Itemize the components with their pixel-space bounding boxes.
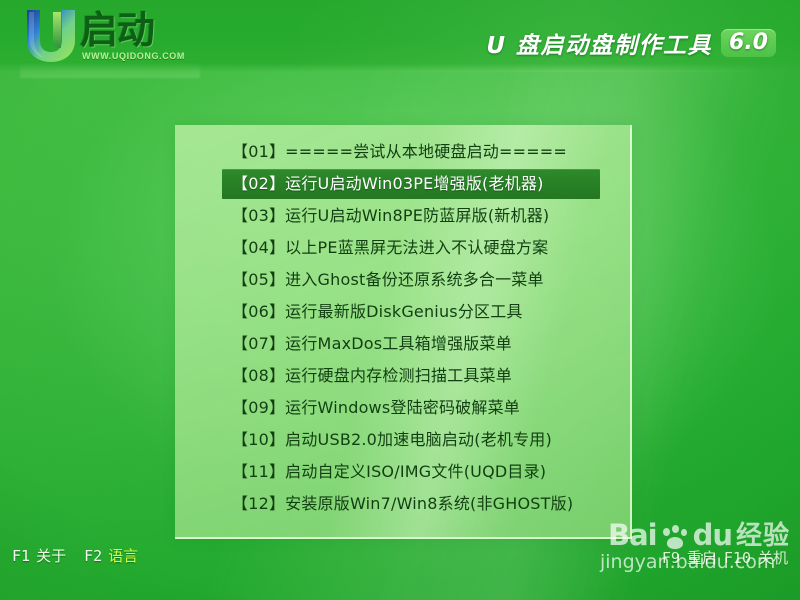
menu-item-11[interactable]: 【11】启动自定义ISO/IMG文件(UQD目录) — [175, 456, 630, 488]
menu-item-label: 【12】安装原版Win7/Win8系统(非GHOST版) — [232, 488, 573, 520]
hotkey-f1-key[interactable]: F1 — [12, 547, 30, 565]
hotkey-f9-key[interactable]: F9 — [662, 549, 680, 567]
page-title: U 盘启动盘制作工具 — [486, 26, 712, 60]
menu-item-label: 【11】启动自定义ISO/IMG文件(UQD目录) — [232, 456, 546, 488]
menu-item-label: 【07】运行MaxDos工具箱增强版菜单 — [232, 328, 512, 360]
menu-item-08[interactable]: 【08】运行硬盘内存检测扫描工具菜单 — [175, 360, 630, 392]
statusbar-right: F9 重启 F10 关机 — [662, 547, 788, 568]
menu-item-05[interactable]: 【05】进入Ghost备份还原系统多合一菜单 — [175, 264, 630, 296]
logo-reflection — [20, 62, 200, 78]
menu-item-label: 【08】运行硬盘内存检测扫描工具菜单 — [232, 360, 512, 392]
menu-item-12[interactable]: 【12】安装原版Win7/Win8系统(非GHOST版) — [175, 488, 630, 520]
boot-menu-panel: 【01】=====尝试从本地硬盘启动=====【02】运行U启动Win03PE增… — [175, 125, 632, 539]
menu-item-06[interactable]: 【06】运行最新版DiskGenius分区工具 — [175, 296, 630, 328]
version-badge: 6.0 — [721, 29, 776, 57]
logo-u-icon — [20, 6, 82, 64]
menu-item-label: 【01】=====尝试从本地硬盘启动===== — [232, 136, 567, 168]
hotkey-f10-key[interactable]: F10 — [724, 549, 751, 567]
boot-menu-list[interactable]: 【01】=====尝试从本地硬盘启动=====【02】运行U启动Win03PE增… — [175, 136, 630, 520]
menu-item-label: 【09】运行Windows登陆密码破解菜单 — [232, 392, 520, 424]
hotkey-f2-label[interactable]: 语言 — [108, 545, 138, 566]
boot-menu-screen: 启动 WWW.UQIDONG.COM U 盘启动盘制作工具 6.0 【01】==… — [0, 0, 800, 600]
menu-item-02[interactable]: 【02】运行U启动Win03PE增强版(老机器) — [175, 168, 630, 200]
menu-item-09[interactable]: 【09】运行Windows登陆密码破解菜单 — [175, 392, 630, 424]
menu-item-07[interactable]: 【07】运行MaxDos工具箱增强版菜单 — [175, 328, 630, 360]
menu-item-03[interactable]: 【03】运行U启动Win8PE防蓝屏版(新机器) — [175, 200, 630, 232]
menu-item-label: 【03】运行U启动Win8PE防蓝屏版(新机器) — [232, 200, 549, 232]
menu-item-04[interactable]: 【04】以上PE蓝黑屏无法进入不认硬盘方案 — [175, 232, 630, 264]
menu-item-label: 【05】进入Ghost备份还原系统多合一菜单 — [232, 264, 544, 296]
hotkey-f1-label[interactable]: 关于 — [36, 545, 66, 566]
menu-item-label: 【10】启动USB2.0加速电脑启动(老机专用) — [232, 424, 552, 456]
hotkey-f9-label[interactable]: 重启 — [687, 547, 717, 568]
hotkey-f2-key[interactable]: F2 — [84, 547, 102, 565]
menu-item-10[interactable]: 【10】启动USB2.0加速电脑启动(老机专用) — [175, 424, 630, 456]
logo-brand-text: 启动 — [80, 8, 154, 52]
menu-item-01[interactable]: 【01】=====尝试从本地硬盘启动===== — [175, 136, 630, 168]
app-title: U 盘启动盘制作工具 6.0 — [486, 26, 776, 60]
statusbar-left: F1 关于 F2 语言 — [12, 545, 138, 566]
menu-item-label: 【06】运行最新版DiskGenius分区工具 — [232, 296, 523, 328]
hotkey-f10-label[interactable]: 关机 — [758, 547, 788, 568]
logo-url-text: WWW.UQIDONG.COM — [82, 51, 185, 61]
uqidong-logo: 启动 WWW.UQIDONG.COM — [14, 4, 204, 70]
menu-item-label: 【02】运行U启动Win03PE增强版(老机器) — [232, 168, 544, 200]
menu-item-label: 【04】以上PE蓝黑屏无法进入不认硬盘方案 — [232, 232, 548, 264]
